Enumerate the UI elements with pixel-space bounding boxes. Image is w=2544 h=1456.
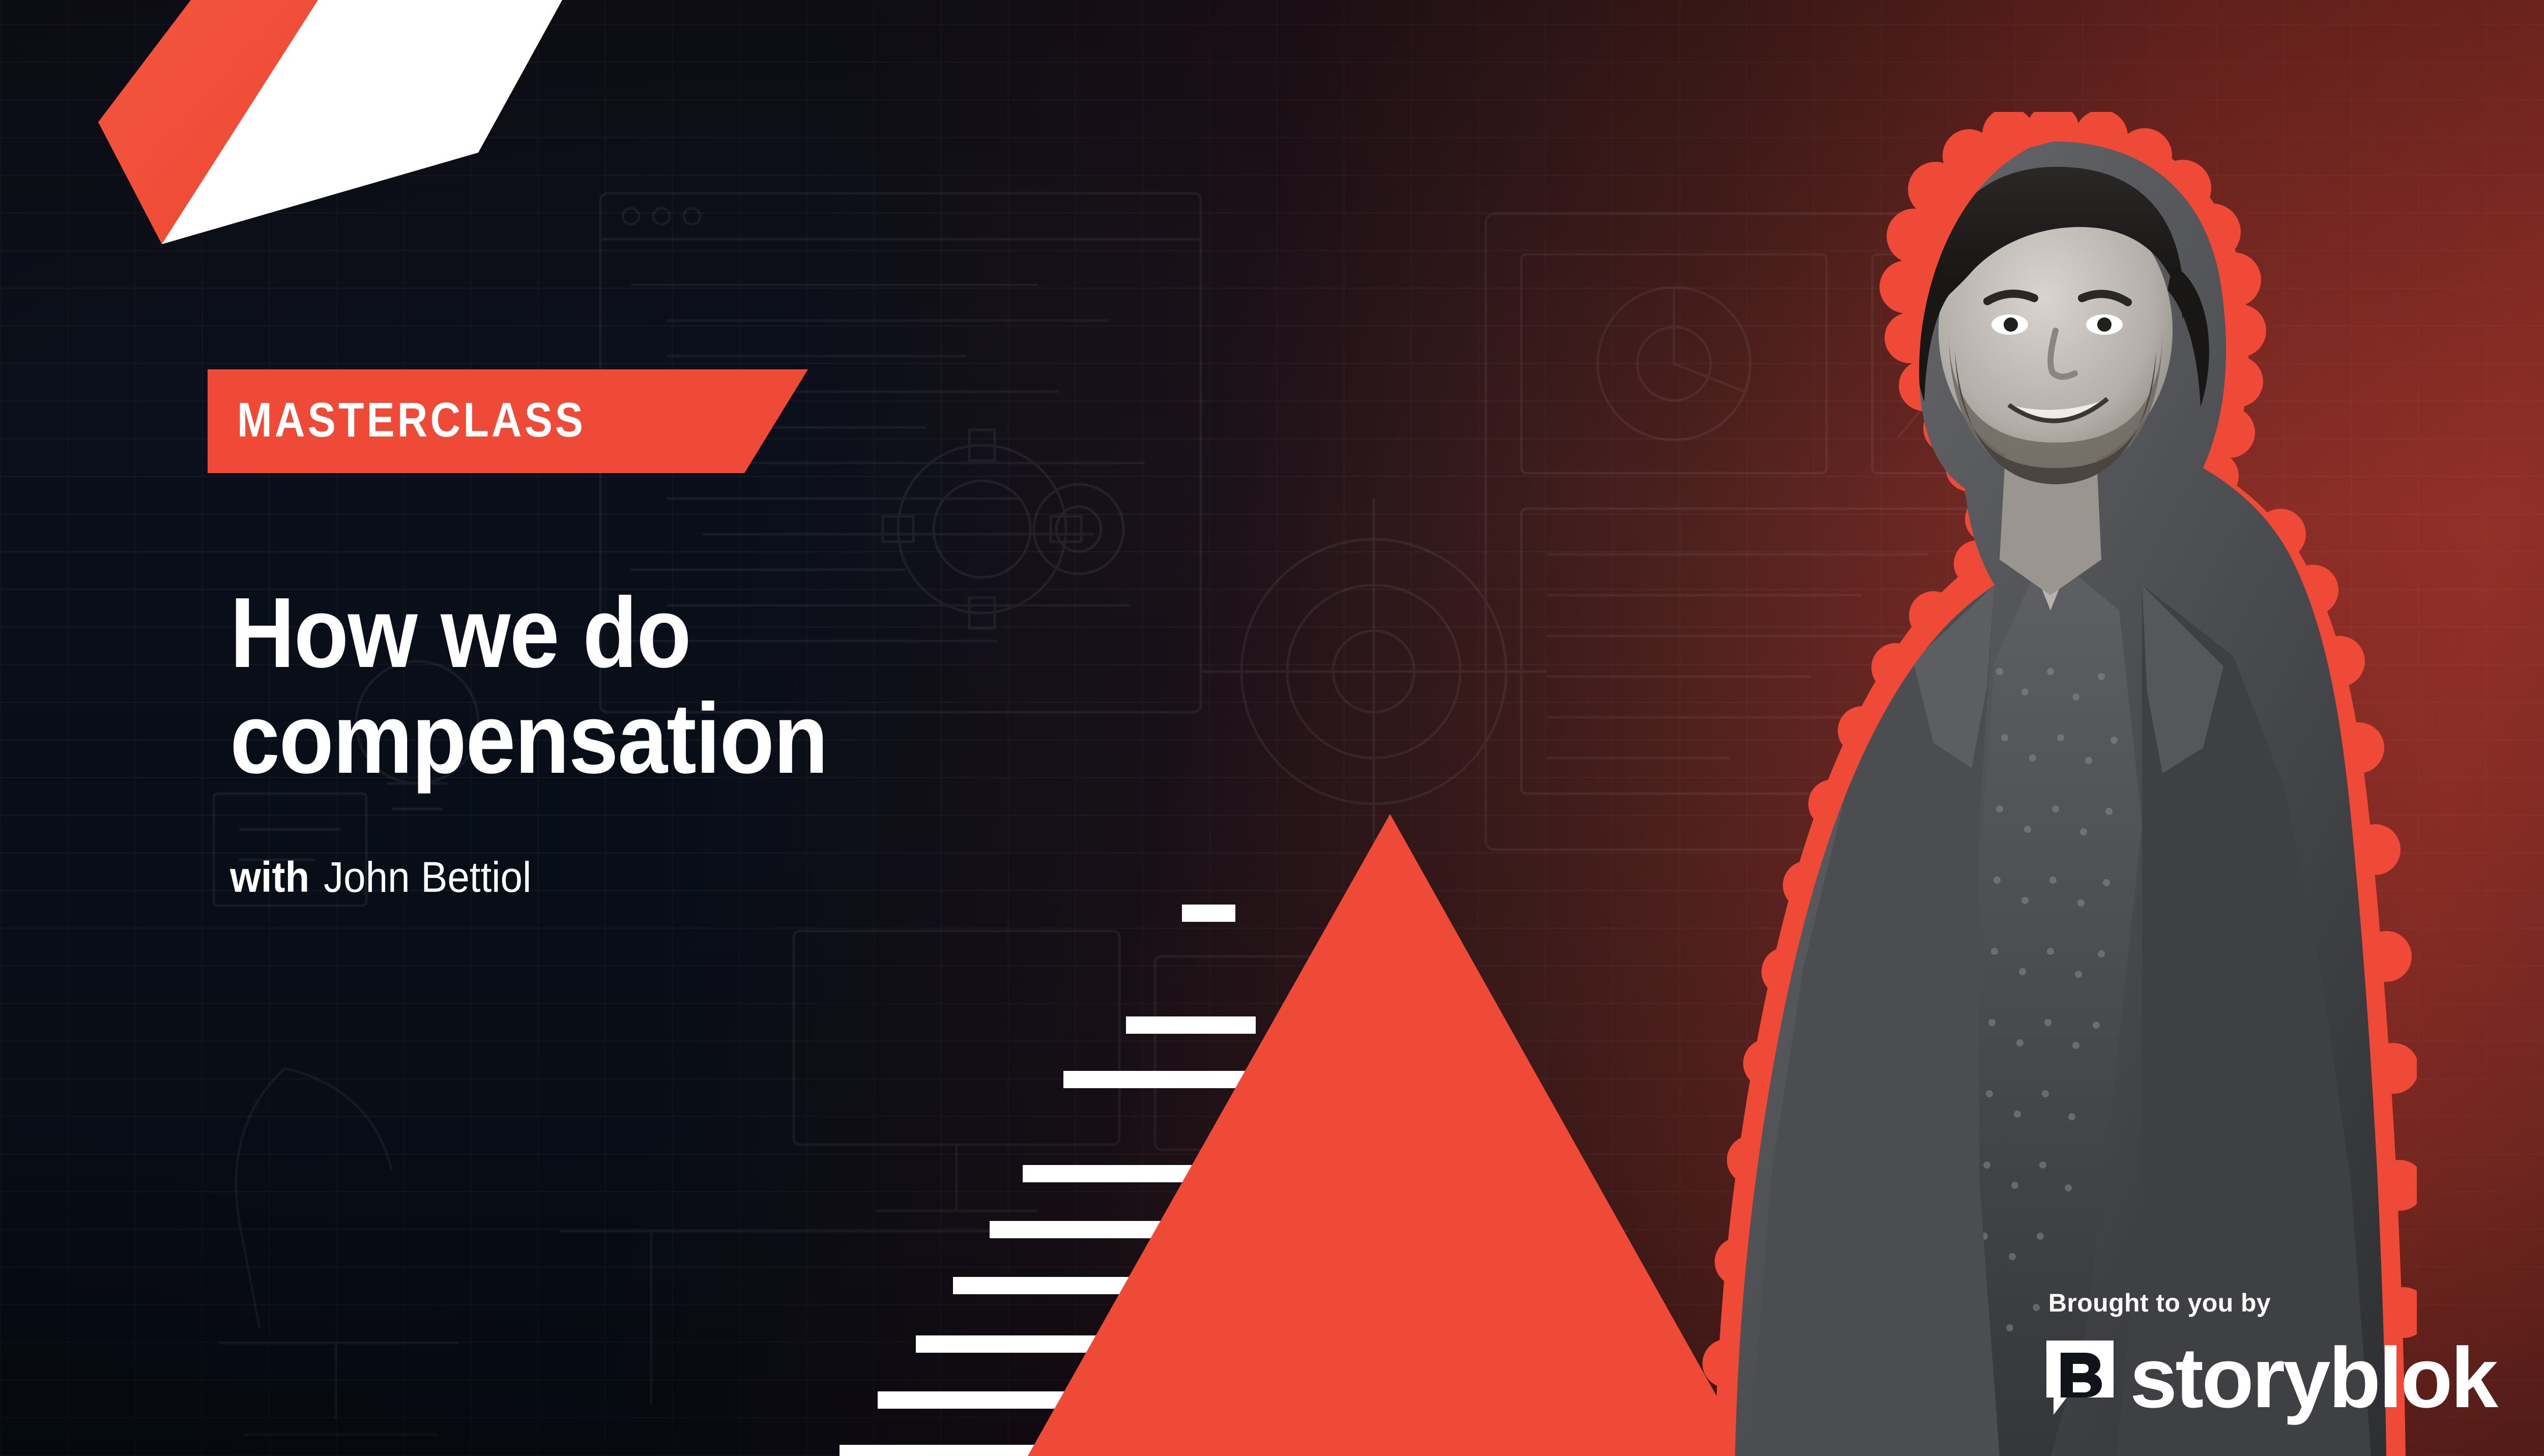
storyblok-wordmark: storyblok	[2130, 1335, 2496, 1420]
badge-label: MASTERCLASS	[237, 396, 586, 445]
copy-block: How we docompensation withJohn Bettiol	[230, 580, 1298, 898]
chevron-v-logo-icon	[0, 0, 661, 244]
page-title-line-2: compensation	[230, 686, 827, 792]
speaker-portrait	[1694, 112, 2417, 1456]
byline-speaker-name: John Bettiol	[324, 853, 531, 901]
page-title-line-1: How we do	[230, 580, 690, 686]
red-triangle-shape	[1028, 814, 1750, 1456]
byline-prefix: with	[230, 853, 309, 901]
masterclass-badge: MASTERCLASS	[208, 369, 808, 473]
portrait-figure	[1694, 112, 2417, 1456]
byline: withJohn Bettiol	[230, 856, 1298, 898]
sponsor-block: Brought to you by storyblok	[2043, 1288, 2496, 1420]
storyblok-logo[interactable]: storyblok	[2043, 1335, 2496, 1420]
byline-inner: withJohn Bettiol	[230, 856, 531, 898]
badge-label-wrapper: MASTERCLASS	[237, 397, 643, 446]
webinar-promo-banner: MASTERCLASS How we docompensation withJo…	[0, 0, 2544, 1456]
sponsor-kicker: Brought to you by	[2043, 1288, 2496, 1318]
storyblok-speech-bubble-b-icon	[2043, 1337, 2117, 1418]
page-title-wrapper: How we docompensation	[230, 580, 1298, 792]
